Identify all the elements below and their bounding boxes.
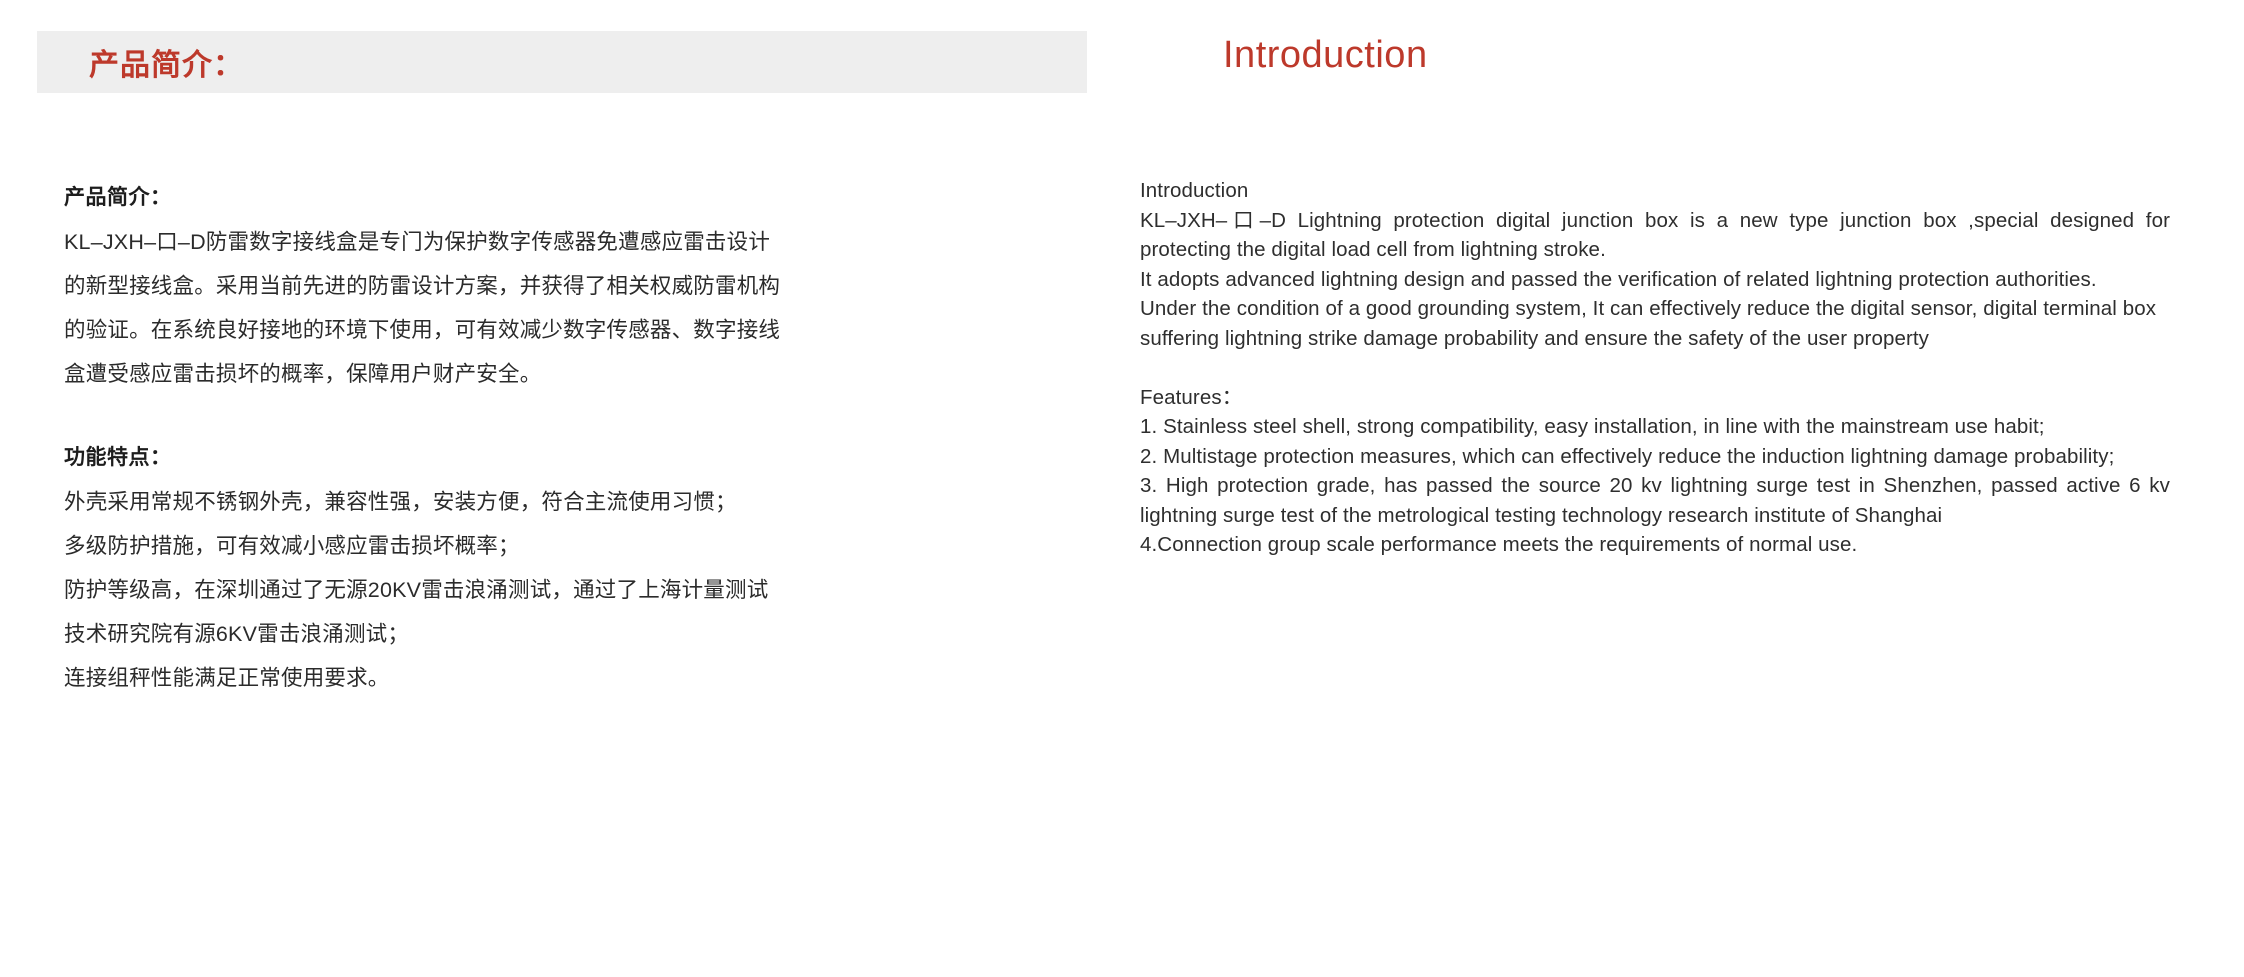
chinese-line: 技术研究院有源6KV雷击浪涌测试； (64, 612, 1089, 656)
section-title-english: Introduction (1223, 34, 1428, 77)
chinese-line: 的验证。在系统良好接地的环境下使用，可有效减少数字传感器、数字接线 (64, 308, 1089, 352)
chinese-line: KL–JXH–口–D防雷数字接线盒是专门为保护数字传感器免遭感应雷击设计 (64, 220, 1089, 264)
chinese-paragraph-features: 外壳采用常规不锈钢外壳，兼容性强，安装方便，符合主流使用习惯； 多级防护措施，可… (64, 480, 1089, 700)
chinese-body: 产品简介： KL–JXH–口–D防雷数字接线盒是专门为保护数字传感器免遭感应雷击… (64, 176, 1089, 700)
chinese-block-product-intro: 产品简介： KL–JXH–口–D防雷数字接线盒是专门为保护数字传感器免遭感应雷击… (64, 176, 1089, 396)
chinese-line: 的新型接线盒。采用当前先进的防雷设计方案，并获得了相关权威防雷机构 (64, 264, 1089, 308)
chinese-heading-features: 功能特点： (64, 436, 1089, 480)
english-intro-para-3: Under the condition of a good grounding … (1140, 294, 2170, 353)
chinese-line: 外壳采用常规不锈钢外壳，兼容性强，安装方便，符合主流使用习惯； (64, 480, 1089, 524)
chinese-paragraph-product-intro: KL–JXH–口–D防雷数字接线盒是专门为保护数字传感器免遭感应雷击设计 的新型… (64, 220, 1089, 396)
chinese-block-features: 功能特点： 外壳采用常规不锈钢外壳，兼容性强，安装方便，符合主流使用习惯； 多级… (64, 436, 1089, 700)
english-feature-4: 4.Connection group scale performance mee… (1140, 530, 2170, 560)
section-title-bar: 产品简介： (37, 31, 1087, 93)
english-body: Introduction KL–JXH–口–D Lightning protec… (1140, 176, 2170, 560)
english-intro-para-2: It adopts advanced lightning design and … (1140, 265, 2170, 295)
section-title-chinese: 产品简介： (89, 40, 244, 84)
chinese-line: 连接组秤性能满足正常使用要求。 (64, 656, 1089, 700)
right-column-english: Introduction Introduction KL–JXH–口–D Lig… (1090, 0, 2244, 977)
product-introduction-page: 产品简介： 产品简介： KL–JXH–口–D防雷数字接线盒是专门为保护数字传感器… (0, 0, 2244, 977)
chinese-line: 防护等级高，在深圳通过了无源20KV雷击浪涌测试，通过了上海计量测试 (64, 568, 1089, 612)
left-column-chinese: 产品简介： 产品简介： KL–JXH–口–D防雷数字接线盒是专门为保护数字传感器… (0, 0, 1090, 977)
english-intro-label: Introduction (1140, 176, 2170, 206)
english-feature-3: 3. High protection grade, has passed the… (1140, 471, 2170, 530)
english-intro-para-1: KL–JXH–口–D Lightning protection digital … (1140, 206, 2170, 265)
english-feature-2: 2. Multistage protection measures, which… (1140, 442, 2170, 472)
english-features-label: Features： (1140, 383, 2170, 413)
english-feature-1: 1. Stainless steel shell, strong compati… (1140, 412, 2170, 442)
chinese-line: 多级防护措施，可有效减小感应雷击损坏概率； (64, 524, 1089, 568)
chinese-heading-product-intro: 产品简介： (64, 176, 1089, 220)
chinese-line: 盒遭受感应雷击损坏的概率，保障用户财产安全。 (64, 352, 1089, 396)
english-paragraph-spacer (1140, 353, 2170, 383)
